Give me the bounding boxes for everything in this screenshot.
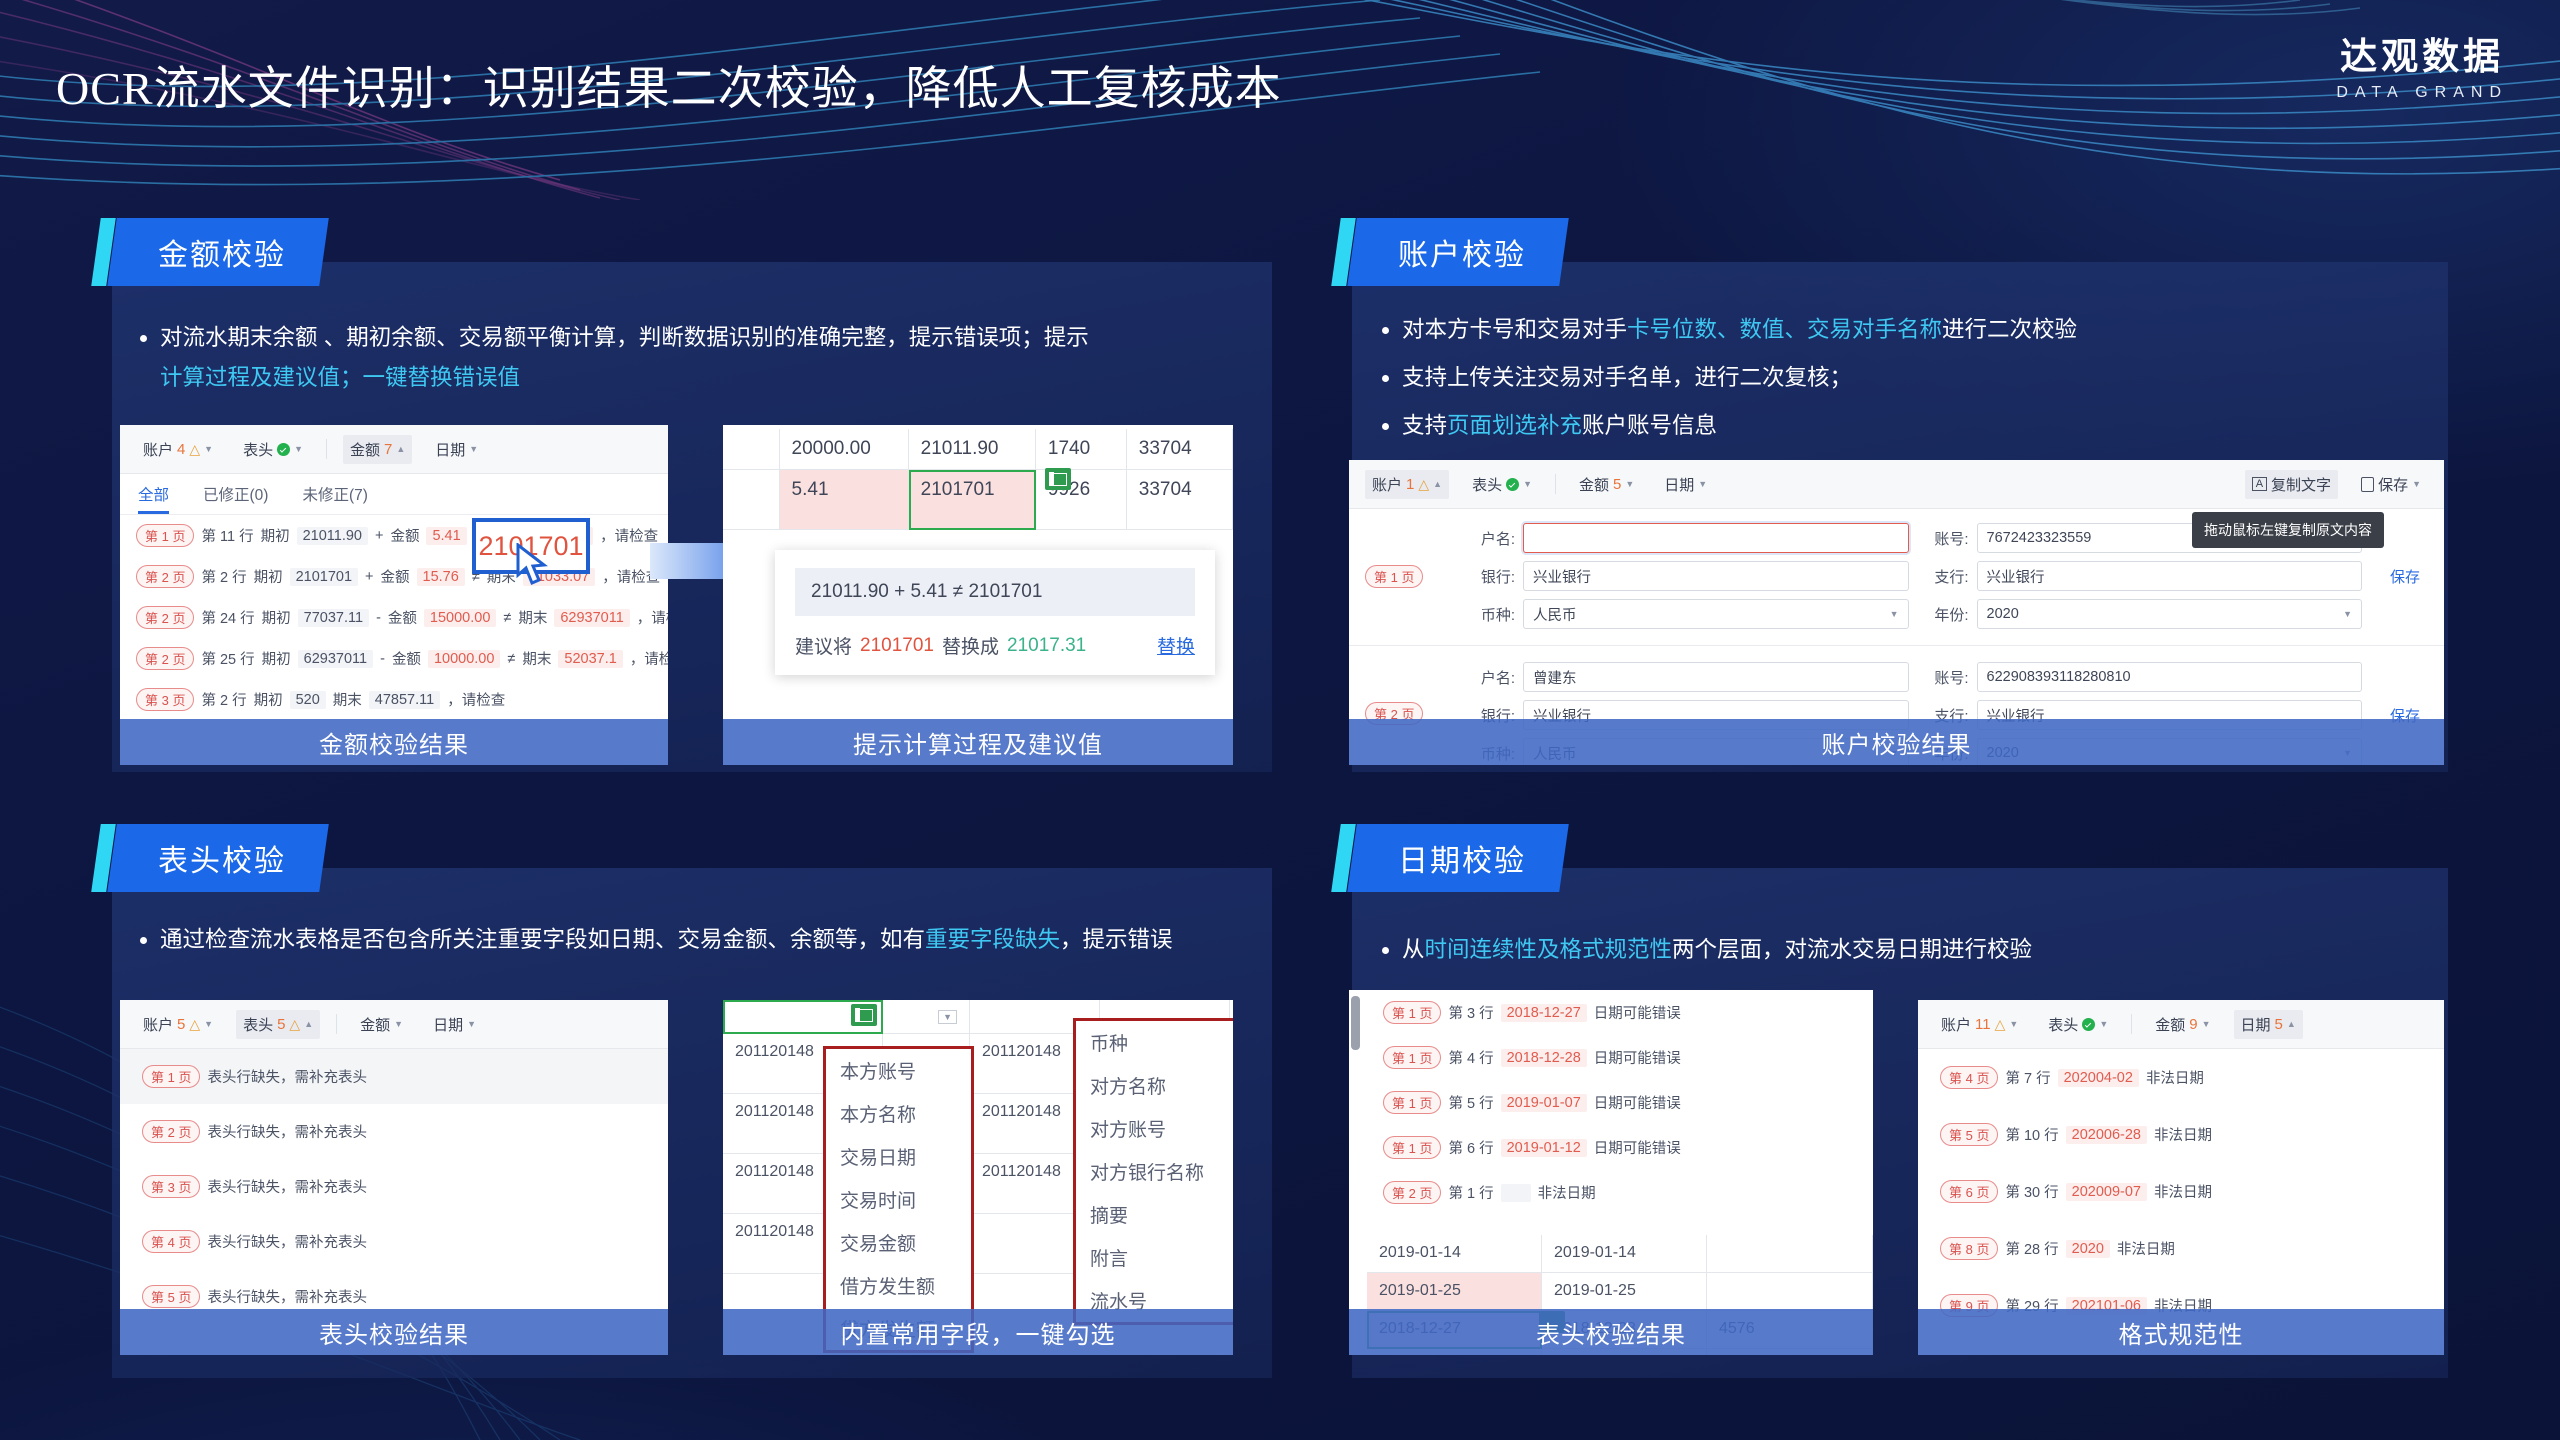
page-badge: 第 2 页 (136, 565, 194, 588)
bullet-highlight: 重要字段缺失 (925, 927, 1060, 952)
sheet-cell[interactable]: 21011.90 (909, 429, 1036, 470)
toolbar-label-amount: 金额 (360, 1014, 390, 1035)
check-circle-icon (2082, 1018, 2095, 1031)
sheet-cell[interactable] (1707, 1235, 1873, 1273)
row-operator: + (365, 569, 373, 585)
bullets-date: 从时间连续性及格式规范性两个层面，对流水交易日期进行校验 (1372, 930, 2432, 978)
warning-triangle-icon: △ (1418, 476, 1429, 493)
field-label: 户名: (1467, 528, 1515, 549)
toolbar-filter-amount[interactable]: 金额 9 ▼ (2148, 1010, 2217, 1039)
row-date-value: 2018-12-28 (1501, 1049, 1587, 1067)
save-label: 保存 (2378, 474, 2408, 495)
screenshot-header-validation: 账户 5 △ ▼ 表头 5 △ ▲ 金额 ▼ 日期 ▼ 第 1 页 表头行缺失，… (120, 1000, 668, 1355)
list-item[interactable]: 第 3 页 表头行缺失，需补充表头 (120, 1159, 668, 1214)
chevron-down-icon: ▼ (2009, 1019, 2018, 1029)
list-item[interactable]: 第 1 页 表头行缺失，需补充表头 (120, 1049, 668, 1104)
row-line: 第 4 行 (1448, 1047, 1493, 1068)
bullet-text: 通过检查流水表格是否包含所关注重要字段如日期、交易金额、余额等，如有 (160, 927, 925, 952)
row-open-label: 期初 (254, 689, 283, 710)
toolbar-count-amount: 9 (2189, 1016, 2197, 1033)
row-operator: - (376, 610, 381, 626)
save-button[interactable]: 保存 ▼ (2354, 470, 2428, 499)
field-currency: 币种: 人民币 ▼ (1467, 599, 1909, 629)
calculation-expression: 21011.90 + 5.41 ≠ 2101701 (795, 568, 1195, 616)
toolbar-filter-account[interactable]: 账户 1 △ ▲ (1365, 470, 1449, 499)
chevron-up-icon: ▲ (1433, 479, 1442, 489)
bullet-text: 从 (1402, 937, 1425, 962)
screenshot-account-validation: 账户 1 △ ▲ 表头 ▼ 金额 5 ▼ 日期 ▼ A 复制文字 保存 ▼ (1349, 460, 2444, 765)
section-label-header: 表头校验 (158, 836, 286, 880)
tab-fixed[interactable]: 已修正(0) (203, 483, 268, 514)
row-open-label: 期初 (262, 648, 291, 669)
sheet-cell[interactable]: 2019-01-25 (1542, 1273, 1707, 1311)
row-date-value: 202004-02 (2058, 1069, 2139, 1087)
toolbar-label-header: 表头 (2048, 1014, 2078, 1035)
save-disk-icon (2361, 477, 2374, 492)
sheet-cell[interactable]: 2019-01-14 (1367, 1235, 1542, 1273)
caption-account-result: 账户校验结果 (1349, 719, 2444, 765)
field-label: 户名: (1467, 667, 1515, 688)
dropdown-option[interactable]: 对方账号 (1076, 1107, 1233, 1150)
row-open-label: 期初 (262, 607, 291, 628)
row-close-label: 期末 (333, 689, 362, 710)
row-message: 非法日期 (2154, 1124, 2212, 1145)
chevron-up-icon: ▲ (2287, 1019, 2296, 1029)
page-badge: 第 4 页 (1940, 1066, 1998, 1089)
row-message: 非法日期 (1538, 1182, 1596, 1203)
row-line: 第 1 行 (1448, 1182, 1493, 1203)
warning-triangle-icon: △ (289, 1016, 300, 1033)
tab-all[interactable]: 全部 (138, 483, 169, 514)
dropdown-option[interactable]: 交易金额 (826, 1221, 971, 1264)
toolbar-filter-account[interactable]: 账户 4 △ ▼ (136, 435, 220, 464)
dropdown-option[interactable]: 本方账号 (826, 1049, 971, 1092)
check-circle-icon (277, 443, 290, 456)
toolbar-label-header: 表头 (243, 439, 273, 460)
chevron-down-icon: ▼ (469, 444, 478, 454)
page-badge: 第 1 页 (142, 1065, 200, 1088)
chevron-up-icon: ▲ (304, 1019, 313, 1029)
chevron-down-icon: ▼ (2412, 479, 2421, 489)
row-amount-value: 15.76 (417, 568, 465, 586)
bullet-highlight: 卡号位数、数值、交易对手名称 (1627, 317, 1942, 342)
row-line: 第 5 行 (1448, 1092, 1493, 1113)
row-date-value: 2019-01-07 (1501, 1094, 1587, 1112)
list-item[interactable]: 第 4 页 第 7 行 202004-02 非法日期 (1918, 1049, 2444, 1106)
bullet-text: 对流水期末余额 、期初余额、交易额平衡计算，判断数据识别的准确完整，提示错误项；… (160, 325, 1089, 350)
account-number-input[interactable]: 622908393118280810 (1977, 662, 2363, 692)
page-badge: 第 1 页 (1383, 1091, 1441, 1114)
year-value: 2020 (1987, 606, 2019, 622)
toolbar-label-header: 表头 (243, 1014, 273, 1035)
dropdown-option[interactable]: 附言 (1076, 1236, 1233, 1279)
toolbar-divider (1555, 474, 1556, 494)
field-year: 年份: 2020 ▼ (1921, 599, 2363, 629)
page-badge: 第 8 页 (1940, 1237, 1998, 1260)
toolbar-count-amount: 7 (384, 441, 392, 458)
page-badge: 第 2 页 (142, 1120, 200, 1143)
toolbar-divider (326, 439, 327, 459)
field-label: 账号: (1921, 528, 1969, 549)
dropdown-option[interactable]: 交易时间 (826, 1178, 971, 1221)
bullet-text: 进行二次校验 (1942, 317, 2077, 342)
section-chip-date: 日期校验 (1347, 824, 1569, 892)
header-cell-empty[interactable]: ▼ (883, 1000, 970, 1034)
dropdown-option[interactable]: 币种 (1076, 1021, 1233, 1064)
field-label: 支行: (1921, 566, 1969, 587)
row-line: 第 3 行 (1448, 1002, 1493, 1023)
caption-amount-result: 金额校验结果 (120, 719, 668, 765)
row-message: 非法日期 (2154, 1181, 2212, 1202)
sheet-row-2: 5.41 2101701 9926 33704 (723, 470, 1233, 530)
chevron-down-icon: ▼ (2099, 1019, 2108, 1029)
list-item-text: 表头行缺失，需补充表头 (207, 1286, 367, 1307)
section-chip-amount: 金额校验 (107, 218, 329, 286)
account-name-input[interactable]: 曾建东 (1523, 662, 1909, 692)
row-line: 第 6 行 (1448, 1137, 1493, 1158)
chevron-down-icon: ▼ (2343, 609, 2352, 619)
toolbar-filter-date[interactable]: 日期 ▼ (1657, 470, 1714, 499)
branch-input[interactable]: 兴业银行 (1977, 561, 2363, 591)
toolbar-filter-account[interactable]: 账户 5 △ ▼ (136, 1010, 220, 1039)
list-item[interactable]: 第 6 页 第 30 行 202009-07 非法日期 (1918, 1163, 2444, 1220)
list-item-text: 表头行缺失，需补充表头 (207, 1231, 367, 1252)
sheet-cell[interactable]: 33704 (1127, 429, 1233, 470)
table-row[interactable]: 第 2 页 第 24 行 期初 77037.11 - 金额 15000.00 ≠… (120, 597, 668, 638)
chevron-up-icon: ▲ (396, 444, 405, 454)
row-line: 第 10 行 (2005, 1124, 2058, 1145)
chevron-down-icon[interactable]: ▼ (938, 1010, 957, 1024)
row-date-value: 2018-12-27 (1501, 1004, 1587, 1022)
chevron-down-icon: ▼ (1698, 479, 1707, 489)
screenshot-field-picker: ▼ ▼ 201120148201120148 20112014820112014… (723, 1000, 1233, 1355)
page-badge: 第 1 页 (1383, 1046, 1441, 1069)
page-title: OCR流水文件识别：识别结果二次校验，降低人工复核成本 (56, 52, 1282, 118)
row-message: 日期可能错误 (1594, 1092, 1681, 1113)
copy-text-button[interactable]: A 复制文字 (2245, 470, 2338, 499)
screenshot-format-validity: 账户 11 △ ▼ 表头 ▼ 金额 9 ▼ 日期 5 ▲ 第 4 页 第 7 行… (1918, 1000, 2444, 1355)
sheet-cell[interactable]: 1740 (1036, 429, 1127, 470)
row-message: 非法日期 (2117, 1238, 2175, 1259)
toolbar-filter-date[interactable]: 日期 ▼ (426, 1010, 483, 1039)
toolbar-label-account: 账户 (143, 439, 173, 460)
sheet-cell-selected[interactable]: 2101701 (909, 470, 1036, 530)
toolbar-filter-header[interactable]: 表头 ▼ (236, 435, 310, 464)
toolbar-filter-header[interactable]: 表头 ▼ (1465, 470, 1539, 499)
amount-toolbar: 账户 4 △ ▼ 表头 ▼ 金额 7 ▲ 日期 ▼ (120, 425, 668, 474)
excel-export-icon[interactable] (851, 1004, 877, 1026)
bullet-text: 账户账号信息 (1582, 413, 1717, 438)
chevron-down-icon: ▼ (1625, 479, 1634, 489)
row-message: 日期可能错误 (1594, 1137, 1681, 1158)
row-not-equal: ≠ (503, 610, 511, 626)
suggestion-prefix: 建议将 (795, 632, 852, 659)
toolbar-filter-date[interactable]: 日期 5 ▲ (2234, 1010, 2303, 1039)
row-tail: ，请检查 (447, 689, 505, 710)
page-badge: 第 2 页 (136, 606, 194, 629)
bullets-amount: 对流水期末余额 、期初余额、交易额平衡计算，判断数据识别的准确完整，提示错误项；… (130, 318, 1260, 406)
sheet-cell-amount[interactable]: 5.41 (780, 470, 909, 530)
chevron-down-icon: ▼ (1890, 609, 1899, 619)
list-item[interactable]: 第 5 页 第 10 行 202006-28 非法日期 (1918, 1106, 2444, 1163)
field-bank: 银行: 兴业银行 (1467, 561, 1909, 591)
check-circle-icon (1506, 478, 1519, 491)
warning-triangle-icon: △ (189, 1016, 200, 1033)
page-badge: 第 1 页 (1383, 1136, 1441, 1159)
row-close-label: 期末 (518, 607, 547, 628)
caption-suggestion: 提示计算过程及建议值 (723, 719, 1233, 765)
row-message: 日期可能错误 (1594, 1002, 1681, 1023)
row-date-empty (1501, 1184, 1531, 1202)
year-select[interactable]: 2020 ▼ (1977, 599, 2363, 629)
account-toolbar: 账户 1 △ ▲ 表头 ▼ 金额 5 ▼ 日期 ▼ A 复制文字 保存 ▼ (1349, 460, 2444, 509)
page-badge: 第 2 页 (136, 647, 194, 670)
chevron-down-icon: ▼ (394, 1019, 403, 1029)
header-toolbar: 账户 5 △ ▼ 表头 5 △ ▲ 金额 ▼ 日期 ▼ (120, 1000, 668, 1049)
row-close-value: 52037.1 (558, 650, 622, 668)
list-item[interactable]: 第 1 页 第 5 行 2019-01-07 日期可能错误 (1367, 1080, 1873, 1125)
field-label: 账号: (1921, 667, 1969, 688)
field-account-name: 户名: 曾建东 (1467, 662, 1909, 692)
chevron-down-icon: ▼ (467, 1019, 476, 1029)
currency-value: 人民币 (1533, 604, 1577, 625)
bullet-text: 支持 (1402, 413, 1447, 438)
row-not-equal: ≠ (507, 651, 515, 667)
bullets-header: 通过检查流水表格是否包含所关注重要字段如日期、交易金额、余额等，如有重要字段缺失… (130, 920, 1260, 968)
row-amount-label: 金额 (388, 607, 417, 628)
screenshot-suggestion: 20000.00 21011.90 1740 33704 5.41 210170… (723, 425, 1233, 765)
tab-unfixed[interactable]: 未修正(7) (302, 483, 367, 514)
page-badge: 第 5 页 (1940, 1123, 1998, 1146)
format-toolbar: 账户 11 △ ▼ 表头 ▼ 金额 9 ▼ 日期 5 ▲ (1918, 1000, 2444, 1049)
row-close-label: 期末 (522, 648, 551, 669)
warning-triangle-icon: △ (1995, 1016, 2006, 1033)
list-item[interactable]: 第 1 页 第 6 行 2019-01-12 日期可能错误 (1367, 1125, 1873, 1170)
row-line: 第 25 行 (201, 648, 254, 669)
table-row[interactable]: 第 3 页 第 2 行 期初 520 期末 47857.11 ，请检查 (120, 679, 668, 720)
copy-text-tooltip: 拖动鼠标左键复制原文内容 (2192, 512, 2384, 548)
row-line: 第 11 行 (201, 525, 253, 546)
sheet-cell[interactable]: 33704 (1127, 470, 1233, 530)
row-open-value: 77037.11 (298, 609, 369, 627)
list-item[interactable]: 第 2 页 第 1 行 非法日期 (1367, 1170, 1873, 1215)
suggestion-new-value: 21017.31 (1007, 635, 1086, 657)
sheet-cell[interactable]: 2019-01-25 (1367, 1273, 1542, 1311)
copy-text-icon: A (2252, 477, 2267, 491)
list-item-text: 表头行缺失，需补充表头 (207, 1121, 367, 1142)
row-line: 第 24 行 (201, 607, 254, 628)
toolbar-label-date: 日期 (1664, 474, 1694, 495)
logo-chinese-text: 达观数据 (2336, 38, 2508, 77)
row-amount-label: 金额 (390, 525, 419, 546)
sheet-row-1: 20000.00 21011.90 1740 33704 (723, 429, 1233, 470)
toolbar-count-account: 11 (1975, 1016, 1991, 1033)
bullet-text: 两个层面，对流水交易日期进行校验 (1672, 937, 2032, 962)
toolbar-filter-header[interactable]: 表头 ▼ (2041, 1010, 2115, 1039)
warning-triangle-icon: △ (189, 441, 200, 458)
page-badge: 第 5 页 (142, 1285, 200, 1308)
row-open-label: 期初 (261, 525, 290, 546)
toolbar-count-account: 4 (177, 441, 185, 458)
sheet-cell[interactable]: 20000.00 (780, 429, 909, 470)
toolbar-label-account: 账户 (1941, 1014, 1971, 1035)
toolbar-divider (336, 1014, 337, 1034)
bullet-text: ，提示错误 (1060, 927, 1173, 952)
chevron-down-icon: ▼ (1523, 479, 1532, 489)
row-tail: ，请检查 (630, 648, 668, 669)
toolbar-filter-amount[interactable]: 金额 5 ▼ (1572, 470, 1641, 499)
sheet-cell[interactable] (1707, 1273, 1873, 1311)
row-line: 第 28 行 (2005, 1238, 2058, 1259)
list-item[interactable]: 第 8 页 第 28 行 2020 非法日期 (1918, 1220, 2444, 1277)
row-open-value: 21011.90 (297, 527, 368, 545)
list-item-text: 表头行缺失，需补充表头 (207, 1066, 367, 1087)
bullet-highlight: 计算过程及建议值；一键替换错误值 (160, 365, 520, 390)
suggestion-mid: 替换成 (942, 632, 999, 659)
field-account-number: 账号: 622908393118280810 (1921, 662, 2363, 692)
dropdown-option[interactable]: 对方名称 (1076, 1064, 1233, 1107)
bullet-highlight: 时间连续性及格式规范性 (1425, 937, 1673, 962)
sheet-cell[interactable] (723, 470, 780, 530)
field-account-name: 户名: (1467, 523, 1909, 553)
mouse-cursor-icon (516, 543, 558, 589)
replace-link[interactable]: 替换 (1157, 632, 1195, 659)
row-close-value: 62937011 (554, 609, 629, 627)
toolbar-count-account: 1 (1406, 476, 1414, 493)
section-label-amount: 金额校验 (158, 230, 286, 274)
row-date-value: 2019-01-12 (1501, 1139, 1587, 1157)
toolbar-count-date: 5 (2275, 1016, 2283, 1033)
chevron-down-icon: ▼ (2202, 1019, 2211, 1029)
excel-export-icon[interactable] (1045, 468, 1071, 490)
toolbar-filter-amount[interactable]: 金额 7 ▲ (343, 435, 412, 464)
list-item-text: 表头行缺失，需补充表头 (207, 1176, 367, 1197)
row-open-label: 期初 (254, 566, 283, 587)
sheet-cell[interactable] (723, 429, 780, 470)
caption-date-result: 表头校验结果 (1349, 1309, 1873, 1355)
row-line: 第 2 行 (201, 689, 246, 710)
toolbar-count-amount: 5 (1613, 476, 1621, 493)
page-badge: 第 1 页 (1383, 1001, 1441, 1024)
row-close-value: 47857.11 (369, 691, 440, 709)
row-date-value: 202006-28 (2066, 1126, 2147, 1144)
toolbar-filter-date[interactable]: 日期 ▼ (428, 435, 485, 464)
toolbar-label-amount: 金额 (1579, 474, 1609, 495)
section-chip-header: 表头校验 (107, 824, 329, 892)
list-item[interactable]: 第 2 页 表头行缺失，需补充表头 (120, 1104, 668, 1159)
row-amount-value: 10000.00 (428, 650, 500, 668)
page-badge: 第 4 页 (142, 1230, 200, 1253)
dropdown-option[interactable]: 本方名称 (826, 1092, 971, 1135)
copy-text-label: 复制文字 (2271, 474, 2331, 495)
screenshot-amount-validation: 账户 4 △ ▼ 表头 ▼ 金额 7 ▲ 日期 ▼ 全部 已修正(0) 未修正(… (120, 425, 668, 765)
logo-english-text: DATA GRAND (2336, 84, 2508, 102)
toolbar-label-header: 表头 (1472, 474, 1502, 495)
row-amount-value: 15000.00 (424, 609, 496, 627)
toolbar-filter-header[interactable]: 表头 5 △ ▲ (236, 1010, 320, 1039)
toolbar-label-amount: 金额 (2155, 1014, 2185, 1035)
row-amount-label: 金额 (381, 566, 410, 587)
chevron-down-icon: ▼ (294, 444, 303, 454)
page-badge: 第 1 页 (1365, 565, 1423, 588)
dropdown-option[interactable]: 摘要 (1076, 1193, 1233, 1236)
suggestion-tooltip: 21011.90 + 5.41 ≠ 2101701 建议将 2101701 替换… (775, 550, 1215, 675)
toolbar-label-account: 账户 (143, 1014, 173, 1035)
toolbar-label-account: 账户 (1372, 474, 1402, 495)
amount-tabs: 全部 已修正(0) 未修正(7) (120, 474, 668, 515)
toolbar-label-date: 日期 (433, 1014, 463, 1035)
bullet-text: 对本方卡号和交易对手 (1402, 317, 1627, 342)
scrollbar-thumb[interactable] (1351, 996, 1360, 1050)
list-item[interactable]: 第 4 页 表头行缺失，需补充表头 (120, 1214, 668, 1269)
toolbar-label-date: 日期 (435, 439, 465, 460)
bank-input[interactable]: 兴业银行 (1523, 561, 1909, 591)
caption-field-picker: 内置常用字段，一键勾选 (723, 1309, 1233, 1355)
caption-header-result: 表头校验结果 (120, 1309, 668, 1355)
row-open-value: 520 (290, 691, 326, 709)
toolbar-divider (2131, 1014, 2132, 1034)
row-open-value: 62937011 (298, 650, 373, 668)
section-chip-account: 账户校验 (1347, 218, 1569, 286)
row-operator: - (380, 651, 385, 667)
page-badge: 第 1 页 (136, 524, 194, 547)
field-label: 币种: (1467, 604, 1515, 625)
save-record-link[interactable]: 保存 (2374, 566, 2420, 587)
list-item[interactable]: 第 1 页 第 3 行 2018-12-27 日期可能错误 (1367, 990, 1873, 1035)
screenshot-date-continuity: 第 1 页 第 3 行 2018-12-27 日期可能错误 第 1 页 第 4 … (1349, 990, 1873, 1355)
toolbar-count-header: 5 (277, 1016, 285, 1033)
dropdown-fields-right[interactable]: 币种 对方名称 对方账号 对方银行名称 摘要 附言 流水号 (1073, 1018, 1233, 1325)
dropdown-fields-left[interactable]: 本方账号 本方名称 交易日期 交易时间 交易金额 借方发生额 贷方发生额 (823, 1046, 974, 1353)
page-badge: 第 2 页 (1383, 1181, 1441, 1204)
bullet-text: 支持上传关注交易对手名单，进行二次复核； (1402, 365, 1852, 390)
field-label: 银行: (1467, 566, 1515, 587)
row-date-value: 202009-07 (2066, 1183, 2147, 1201)
row-date-value: 2020 (2066, 1240, 2110, 1258)
dropdown-option[interactable]: 交易日期 (826, 1135, 971, 1178)
page-badge: 第 3 页 (142, 1175, 200, 1198)
suggestion-line: 建议将 2101701 替换成 21017.31 替换 (795, 632, 1195, 659)
account-name-input[interactable] (1523, 523, 1909, 553)
list-item[interactable]: 第 1 页 第 4 行 2018-12-28 日期可能错误 (1367, 1035, 1873, 1080)
section-label-date: 日期校验 (1398, 836, 1526, 880)
field-branch: 支行: 兴业银行 (1921, 561, 2363, 591)
sheet-cell[interactable]: 2019-01-14 (1542, 1235, 1707, 1273)
chevron-down-icon: ▼ (204, 1019, 213, 1029)
toolbar-label-date: 日期 (2241, 1014, 2271, 1035)
row-operator: + (375, 528, 383, 544)
row-line: 第 2 行 (201, 566, 246, 587)
chevron-down-icon: ▼ (204, 444, 213, 454)
dropdown-option[interactable]: 借方发生额 (826, 1264, 971, 1307)
row-line: 第 30 行 (2005, 1181, 2058, 1202)
row-amount-label: 金额 (392, 648, 421, 669)
row-line: 第 7 行 (2005, 1067, 2050, 1088)
row-open-value: 2101701 (290, 568, 358, 586)
toolbar-filter-amount[interactable]: 金额 ▼ (353, 1010, 410, 1039)
toolbar-label-amount: 金额 (350, 439, 380, 460)
bullets-account: 对本方卡号和交易对手卡号位数、数值、交易对手名称进行二次校验 支持上传关注交易对… (1372, 310, 2432, 454)
row-message: 非法日期 (2146, 1067, 2204, 1088)
page-badge: 第 3 页 (136, 688, 194, 711)
table-row[interactable]: 第 2 页 第 25 行 期初 62937011 - 金额 10000.00 ≠… (120, 638, 668, 679)
dropdown-option[interactable]: 对方银行名称 (1076, 1150, 1233, 1193)
caption-format-validity: 格式规范性 (1918, 1309, 2444, 1355)
toolbar-filter-account[interactable]: 账户 11 △ ▼ (1934, 1010, 2025, 1039)
field-label: 年份: (1921, 604, 1969, 625)
section-label-account: 账户校验 (1398, 230, 1526, 274)
currency-select[interactable]: 人民币 ▼ (1523, 599, 1909, 629)
